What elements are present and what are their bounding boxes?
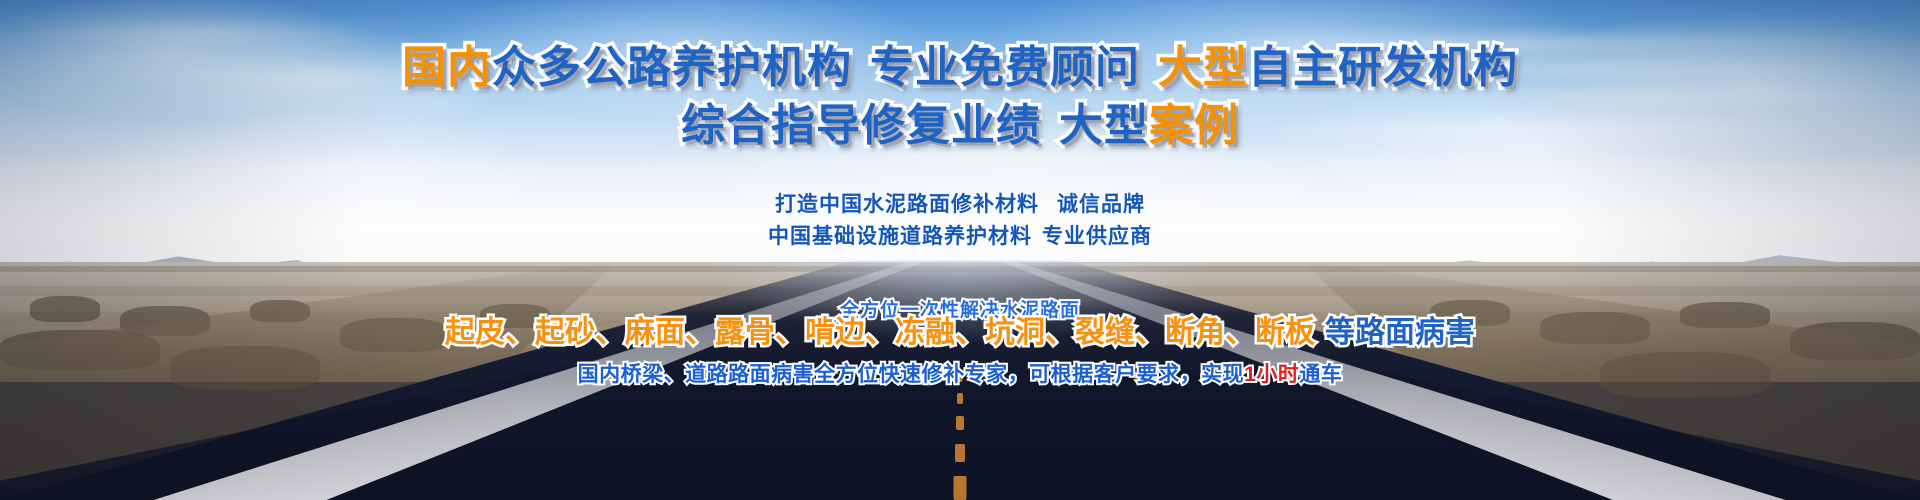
damage-separator: 、 bbox=[1045, 316, 1075, 349]
damage-item: 起砂 bbox=[535, 316, 595, 349]
subtitle-line-2: 中国基础设施道路养护材料专业供应商 bbox=[0, 222, 1920, 252]
damage-separator: 、 bbox=[865, 316, 895, 349]
headline-seg-guonei: 国内 bbox=[402, 43, 492, 92]
damage-item: 啃边 bbox=[805, 316, 865, 349]
damage-separator: 、 bbox=[1225, 316, 1255, 349]
subtitle-line-1: 打造中国水泥路面修补材料诚信品牌 bbox=[0, 190, 1920, 220]
damage-item: 起皮 bbox=[445, 316, 505, 349]
headline-seg-anli: 案例 bbox=[1149, 101, 1239, 150]
headline-seg-daxing: 大型 bbox=[1158, 43, 1248, 92]
damage-item: 麻面 bbox=[625, 316, 685, 349]
damage-item: 露骨 bbox=[715, 316, 775, 349]
headline-line-2: 综合指导修复业绩大型案例 bbox=[0, 104, 1920, 148]
closing-text-a: 国内桥梁、道路路面病害全方位快速修补专家，可根据客户要求，实现 bbox=[578, 363, 1245, 386]
banner-content: 国内众多公路养护机构专业免费顾问大型自主研发机构 综合指导修复业绩大型案例 打造… bbox=[0, 0, 1920, 500]
subtitle-text-c: 中国基础设施道路养护材料 bbox=[768, 225, 1032, 248]
bottom-closing-line: 国内桥梁、道路路面病害全方位快速修补专家，可根据客户要求，实现1小时通车 bbox=[0, 358, 1920, 388]
damage-item: 断角 bbox=[1165, 316, 1225, 349]
damage-separator: 、 bbox=[775, 316, 805, 349]
damage-separator: 、 bbox=[595, 316, 625, 349]
headline-seg-mianfei: 免费顾问 bbox=[960, 43, 1140, 92]
headline-seg-zonghe: 综合指导修复业绩 bbox=[681, 101, 1041, 150]
damage-separator: 、 bbox=[505, 316, 535, 349]
closing-highlight: 1小时 bbox=[1244, 363, 1299, 386]
damage-separator: 、 bbox=[685, 316, 715, 349]
headline-seg-zhongduo: 众多公路养护机构 bbox=[492, 43, 852, 92]
headline-line-1: 国内众多公路养护机构专业免费顾问大型自主研发机构 bbox=[0, 46, 1920, 90]
damage-item: 坑洞 bbox=[985, 316, 1045, 349]
subtitle-text-a: 打造中国水泥路面修补材料 bbox=[775, 193, 1039, 216]
headline-seg-daxing2: 大型 bbox=[1059, 101, 1149, 150]
damage-item: 冻融 bbox=[895, 316, 955, 349]
damage-item: 裂缝 bbox=[1075, 316, 1135, 349]
headline-seg-zhuanye: 专业 bbox=[870, 43, 960, 92]
headline-seg-zizhu: 自主研发机构 bbox=[1248, 43, 1518, 92]
subtitle-text-d: 专业供应商 bbox=[1042, 225, 1152, 248]
damage-list-line: 起皮、起砂、麻面、露骨、啃边、冻融、坑洞、裂缝、断角、断板等路面病害 bbox=[0, 318, 1920, 348]
subtitle-text-b: 诚信品牌 bbox=[1057, 193, 1145, 216]
damage-separator: 、 bbox=[1135, 316, 1165, 349]
promo-banner: 国内众多公路养护机构专业免费顾问大型自主研发机构 综合指导修复业绩大型案例 打造… bbox=[0, 0, 1920, 500]
closing-text-b: 通车 bbox=[1299, 363, 1342, 386]
damage-separator: 、 bbox=[955, 316, 985, 349]
damage-item: 断板 bbox=[1255, 316, 1315, 349]
damage-list-tail: 等路面病害 bbox=[1325, 316, 1475, 349]
